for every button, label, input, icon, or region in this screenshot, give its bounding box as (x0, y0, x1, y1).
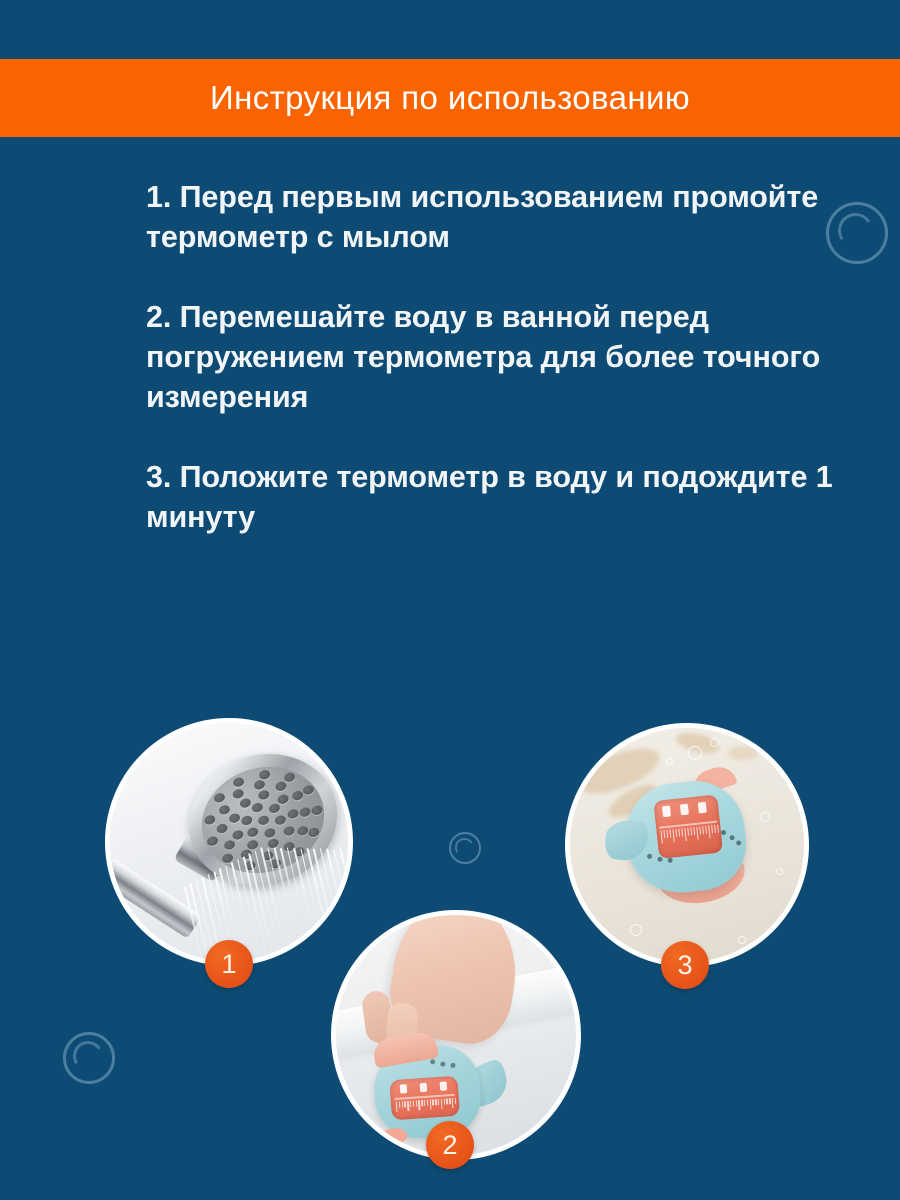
thermometer-display (389, 1076, 460, 1121)
step-2-text: 2. Перемешайте воду в ванной перед погру… (146, 298, 846, 418)
bubble-icon-center (449, 832, 481, 864)
instruction-step-2: 2. Перемешайте воду в ванной перед погру… (146, 298, 846, 418)
instruction-step-1: 1. Перед первым использованием промойте … (146, 178, 846, 258)
hand-thermometer-illustration (336, 915, 576, 1155)
photo-badge-1: 1 (205, 940, 253, 988)
thermometer-display (653, 794, 723, 858)
photo-whale-in-water (565, 723, 809, 967)
photo-shower-head (105, 718, 353, 966)
whale-in-water-illustration (570, 728, 804, 962)
step-1-text: 1. Перед первым использованием промойте … (146, 178, 846, 258)
foam-patch-d (728, 746, 758, 760)
bubble-icon-top-right (826, 202, 888, 264)
page-title: Инструкция по использованию (210, 79, 690, 117)
instruction-steps: 1. Перед первым использованием промойте … (146, 178, 846, 578)
bubble-icon-bottom-left (63, 1032, 115, 1084)
photo-badge-2: 2 (426, 1121, 474, 1169)
whale-thermometer-floating (604, 770, 769, 917)
header-banner: Инструкция по использованию (0, 59, 900, 137)
shower-head-illustration (110, 723, 348, 961)
whale-foot (381, 1127, 408, 1145)
instruction-step-3: 3. Положите термометр в воду и подождите… (146, 458, 846, 538)
photo-badge-3: 3 (661, 941, 709, 989)
step-3-text: 3. Положите термометр в воду и подождите… (146, 458, 846, 538)
